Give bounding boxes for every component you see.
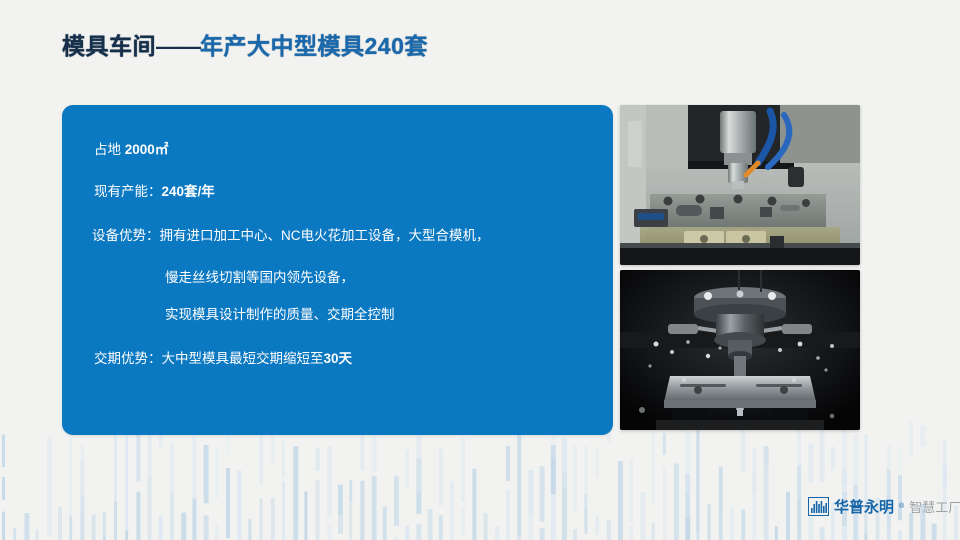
info-line-lead-time: 交期优势：大中型模具最短交期缩短至30天 xyxy=(94,352,352,366)
capacity-label: 现有产能： xyxy=(94,184,162,199)
photo-cnc-milling-machine xyxy=(620,105,860,265)
lead-text: 大中型模具最短交期缩短至 xyxy=(162,351,324,366)
capacity-value: 240套/年 xyxy=(162,184,215,199)
info-panel: 占地 2000㎡ 现有产能：240套/年 设备优势：拥有进口加工中心、NC电火花… xyxy=(62,105,613,435)
lead-value: 30天 xyxy=(324,351,353,366)
logo-brand-name: 华普永明 xyxy=(834,496,894,517)
photo-cnc-dark-machining xyxy=(620,270,860,430)
brand-logo: 华普永明® 智慧工厂 xyxy=(808,496,960,517)
logo-trademark: ® xyxy=(899,503,904,510)
area-label: 占地 xyxy=(94,142,125,157)
info-line-area: 占地 2000㎡ xyxy=(94,143,168,157)
cnc-milling-illustration xyxy=(620,105,860,265)
logo-sub-brand: 智慧工厂 xyxy=(909,497,960,516)
page-title-part2: 年产大中型模具240套 xyxy=(200,27,428,61)
equipment-label: 设备优势： xyxy=(92,228,160,243)
huapu-bars-logo-icon xyxy=(808,497,829,516)
area-value: 2000 xyxy=(125,142,155,157)
area-unit: ㎡ xyxy=(155,142,169,157)
lead-label: 交期优势： xyxy=(94,351,162,366)
page-title-dash: —— xyxy=(156,33,200,60)
cnc-dark-illustration xyxy=(620,270,860,430)
info-line-equipment-2: 慢走丝线切割等国内领先设备， xyxy=(165,271,354,285)
info-line-capacity: 现有产能：240套/年 xyxy=(94,185,215,199)
info-line-equipment-3: 实现模具设计制作的质量、交期全控制 xyxy=(165,308,395,322)
equipment-text-1: 拥有进口加工中心、NC电火花加工设备，大型合模机， xyxy=(160,228,490,243)
page-title-part1: 模具车间 xyxy=(62,27,156,61)
info-line-equipment-1: 设备优势：拥有进口加工中心、NC电火花加工设备，大型合模机， xyxy=(92,229,490,243)
page-title: 模具车间 —— 年产大中型模具240套 xyxy=(62,27,428,61)
slide-canvas: 模具车间 —— 年产大中型模具240套 占地 2000㎡ 现有产能：240套/年… xyxy=(0,0,960,540)
